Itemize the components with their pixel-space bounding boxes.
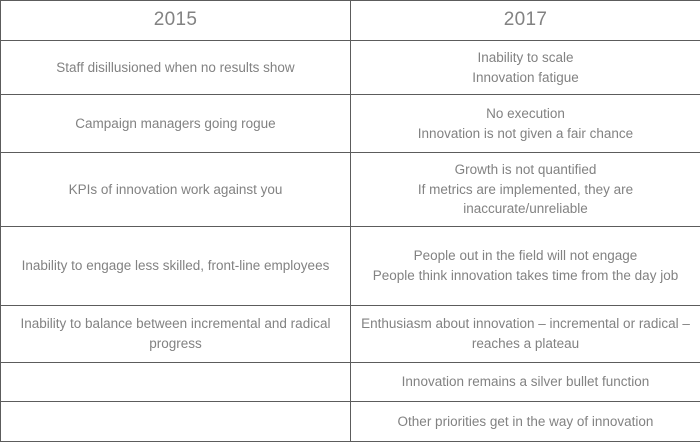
cell-2017-7: Other priorities get in the way of innov…: [351, 402, 700, 442]
table-row: Other priorities get in the way of innov…: [1, 402, 700, 442]
cell-2017-2: No executionInnovation is not given a fa…: [351, 95, 700, 153]
cell-2015-5: Inability to balance between incremental…: [1, 306, 351, 363]
cell-2017-1: Inability to scaleInnovation fatigue: [351, 41, 700, 95]
column-header-2017: 2017: [351, 1, 700, 41]
cell-2015-1: Staff disillusioned when no results show: [1, 41, 351, 95]
table-row: Campaign managers going rogue No executi…: [1, 95, 700, 153]
table-header-row: 2015 2017: [1, 1, 700, 41]
cell-2015-6-empty: [1, 363, 351, 402]
cell-2017-5: Enthusiasm about innovation – incrementa…: [351, 306, 700, 363]
table-row: Innovation remains a silver bullet funct…: [1, 363, 700, 402]
table-header: 2015 2017: [1, 1, 700, 41]
cell-2015-3: KPIs of innovation work against you: [1, 153, 351, 227]
cell-2017-3: Growth is not quantifiedIf metrics are i…: [351, 153, 700, 227]
comparison-table: 2015 2017 Staff disillusioned when no re…: [0, 0, 700, 442]
table-row: Staff disillusioned when no results show…: [1, 41, 700, 95]
table-row: Inability to engage less skilled, front-…: [1, 227, 700, 306]
table-row: Inability to balance between incremental…: [1, 306, 700, 363]
table-body: Staff disillusioned when no results show…: [1, 41, 700, 442]
cell-2015-2: Campaign managers going rogue: [1, 95, 351, 153]
cell-2017-6: Innovation remains a silver bullet funct…: [351, 363, 700, 402]
cell-2015-7-empty: [1, 402, 351, 442]
column-header-2015: 2015: [1, 1, 351, 41]
cell-2015-4: Inability to engage less skilled, front-…: [1, 227, 351, 306]
cell-2017-4: People out in the field will not engageP…: [351, 227, 700, 306]
table-row: KPIs of innovation work against you Grow…: [1, 153, 700, 227]
